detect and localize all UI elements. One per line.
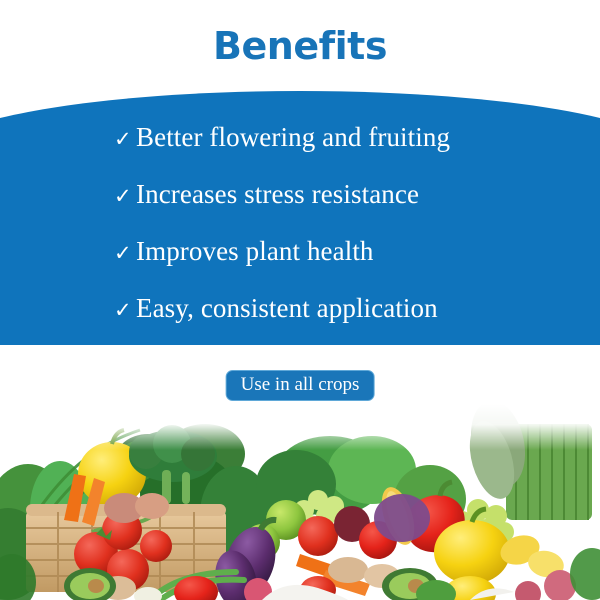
- list-item: ✓ Easy, consistent application: [114, 293, 438, 323]
- list-item: ✓ Better flowering and fruiting: [114, 122, 450, 152]
- use-in-all-crops-badge: Use in all crops: [226, 370, 375, 401]
- list-item-label: Increases stress resistance: [136, 179, 419, 209]
- check-icon: ✓: [114, 186, 136, 207]
- list-item-label: Improves plant health: [136, 236, 374, 266]
- check-icon: ✓: [114, 129, 136, 150]
- check-icon: ✓: [114, 243, 136, 264]
- list-item-label: Easy, consistent application: [136, 293, 438, 323]
- list-item: ✓ Improves plant health: [114, 236, 374, 266]
- vegetables-photo: [0, 404, 600, 600]
- benefits-list: ✓ Better flowering and fruiting ✓ Increa…: [0, 80, 600, 345]
- page-title: Benefits: [0, 24, 600, 68]
- list-item: ✓ Increases stress resistance: [114, 179, 419, 209]
- check-icon: ✓: [114, 300, 136, 321]
- benefits-poster: Benefits ✓ Better flowering and fruiting…: [0, 0, 600, 600]
- vegetables-illustration: [0, 404, 600, 600]
- list-item-label: Better flowering and fruiting: [136, 122, 450, 152]
